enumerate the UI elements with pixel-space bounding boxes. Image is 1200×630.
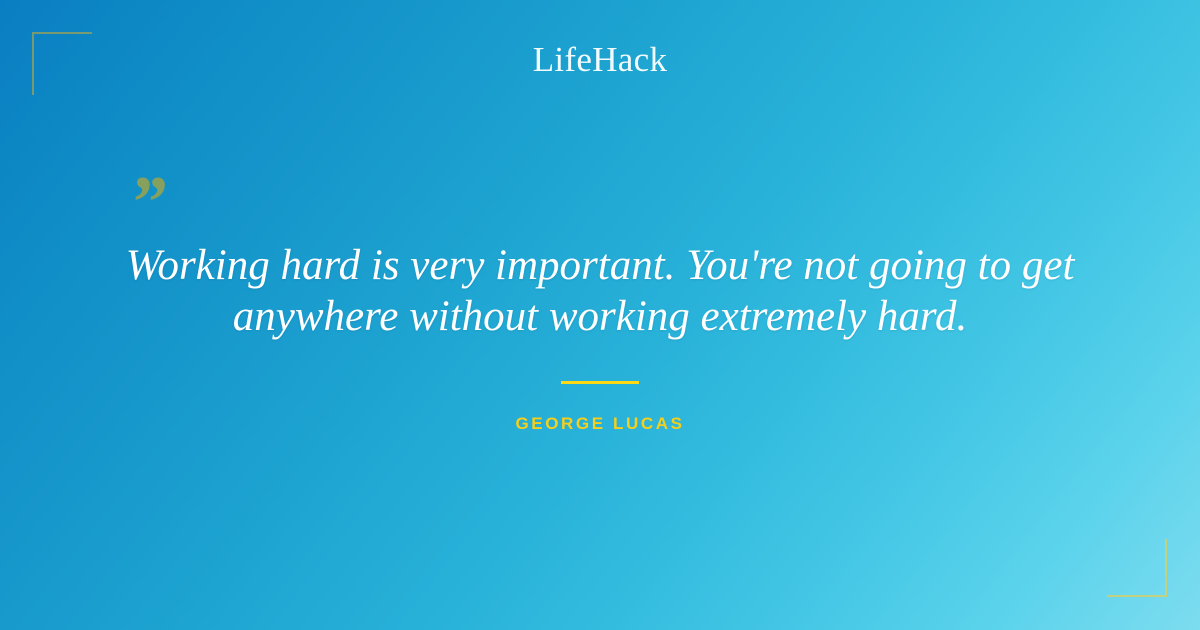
author-name: GEORGE LUCAS: [0, 414, 1200, 434]
quote-line: Working hard is very important. You're n…: [100, 240, 1100, 291]
quotation-mark-icon: ”: [129, 166, 166, 240]
quote-text: Working hard is very important. You're n…: [100, 240, 1100, 342]
quote-card: LifeHack ” Working hard is very importan…: [0, 0, 1200, 630]
author-divider: [561, 381, 639, 384]
quote-line: anywhere without working extremely hard.: [100, 291, 1100, 342]
brand-logo: LifeHack: [0, 40, 1200, 80]
corner-bracket-bottom-right-icon: [1107, 539, 1167, 597]
